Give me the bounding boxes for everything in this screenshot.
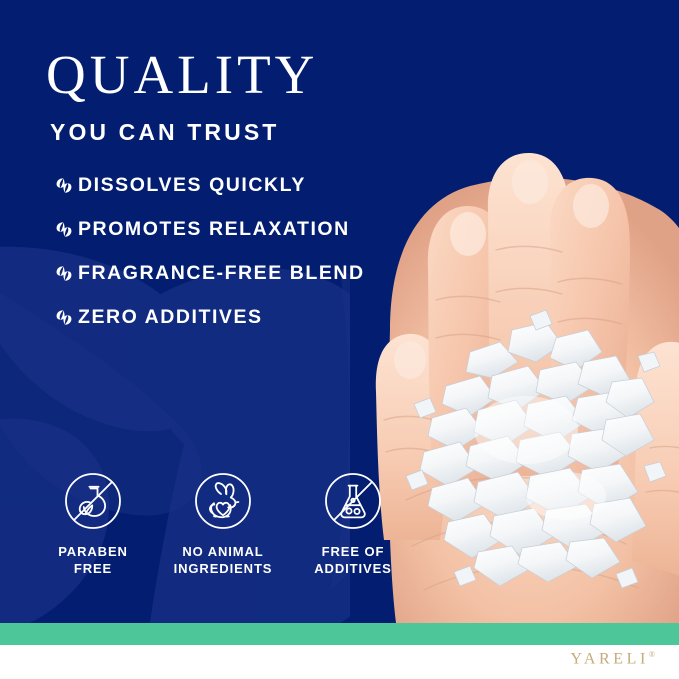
no-paraben-flask-icon bbox=[64, 472, 122, 530]
registered-trademark-mark: ® bbox=[649, 650, 655, 659]
leaf-pair-bullet-icon bbox=[54, 309, 74, 326]
product-feature-graphic: QUALITY YOU CAN TRUST DISSOLVES QUICKLY bbox=[0, 0, 679, 679]
benefit-label: PROMOTES RELAXATION bbox=[78, 218, 350, 241]
benefit-label: ZERO ADDITIVES bbox=[78, 306, 263, 329]
brand-name: YARELI bbox=[570, 650, 648, 667]
list-item: ZERO ADDITIVES bbox=[54, 295, 394, 339]
trust-badge-paraben-free: PARABEN FREE bbox=[28, 472, 158, 577]
leaf-pair-bullet-icon bbox=[54, 177, 74, 194]
blue-background-panel: QUALITY YOU CAN TRUST DISSOLVES QUICKLY bbox=[0, 0, 679, 623]
no-additives-flask-icon bbox=[324, 472, 382, 530]
trust-badge-free-of-additives: FREE OF ADDITIVES bbox=[288, 472, 418, 577]
list-item: PROMOTES RELAXATION bbox=[54, 207, 394, 251]
page-title: QUALITY bbox=[46, 46, 386, 104]
benefit-list: DISSOLVES QUICKLY PROMOTES RELAXATION bbox=[54, 163, 394, 339]
brand-logo: YARELI® bbox=[570, 650, 655, 668]
trust-badge-no-animal-ingredients: NO ANIMAL INGREDIENTS bbox=[158, 472, 288, 577]
trust-badge-row: PARABEN FREE bbox=[28, 472, 418, 577]
benefit-label: DISSOLVES QUICKLY bbox=[78, 174, 306, 197]
trust-badge-label: FREE OF ADDITIVES bbox=[314, 543, 391, 577]
page-subtitle: YOU CAN TRUST bbox=[50, 118, 386, 146]
trust-badge-label: NO ANIMAL INGREDIENTS bbox=[174, 543, 273, 577]
trust-badge-label: PARABEN FREE bbox=[58, 543, 128, 577]
headline-block: QUALITY YOU CAN TRUST bbox=[46, 46, 386, 146]
cruelty-free-rabbit-heart-icon bbox=[194, 472, 252, 530]
benefit-label: FRAGRANCE-FREE BLEND bbox=[78, 262, 365, 285]
teal-accent-bar bbox=[0, 623, 679, 645]
leaf-pair-bullet-icon bbox=[54, 265, 74, 282]
leaf-pair-bullet-icon bbox=[54, 221, 74, 238]
list-item: FRAGRANCE-FREE BLEND bbox=[54, 251, 394, 295]
list-item: DISSOLVES QUICKLY bbox=[54, 163, 394, 207]
